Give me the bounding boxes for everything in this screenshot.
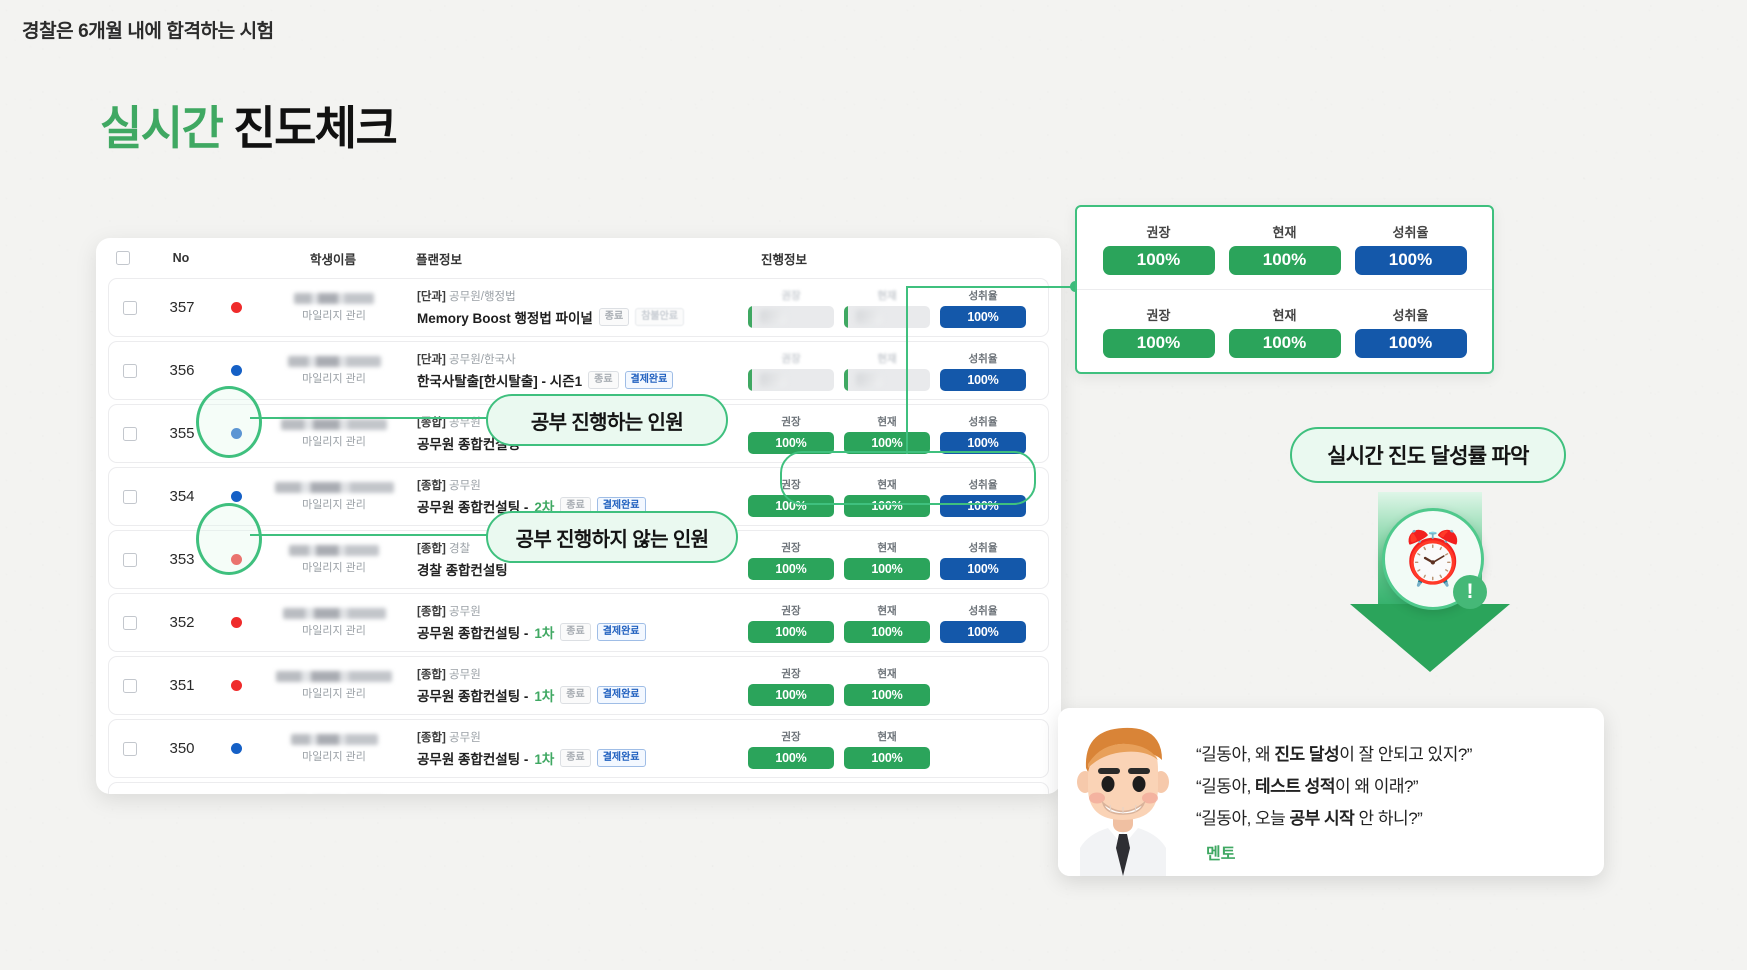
mileage-label: 마일리지 관리	[302, 622, 366, 638]
progress-cell-achievement: 성취율 100%	[940, 603, 1026, 643]
alarm-clock-glyph: ⏰	[1401, 533, 1466, 585]
detail-label-current: 현재	[1273, 222, 1297, 241]
progress-cell-recommended: 권장	[748, 288, 834, 328]
detail-connector-horizontal	[906, 286, 1076, 288]
plan-title-line: 한국사탈출[한시탈출] - 시즌1종료결제완료	[417, 370, 673, 390]
mentor-avatar	[1058, 708, 1188, 876]
select-all-cell[interactable]	[96, 251, 150, 265]
progress-label-achievement: 성취율	[969, 603, 998, 618]
select-all-checkbox[interactable]	[116, 251, 130, 265]
row-student-name: 마일리지 관리	[259, 671, 409, 701]
mentor-line-1: “길동아, 왜 진도 달성이 잘 안되고 있지?”	[1196, 740, 1588, 765]
progress-label-recommended: 권장	[781, 540, 800, 555]
plan-title: 공무원 종합컨설팅 -	[417, 685, 528, 705]
highlight-ring-not-studying	[196, 503, 262, 575]
progress-label-current: 현재	[877, 414, 896, 429]
mentor-line-3: “길동아, 오늘 공부 시작 안 하니?”	[1196, 804, 1588, 829]
student-name-masked	[294, 293, 374, 304]
progress-label-current: 현재	[877, 666, 896, 681]
row-no: 354	[151, 488, 213, 505]
progress-cell-recommended: 권장 100%	[748, 729, 834, 769]
header-no: No	[150, 251, 212, 265]
mentor-line-3-c: 안 하니?”	[1354, 809, 1422, 828]
progress-highlight-box	[780, 451, 1036, 505]
plan-tag-payment: 결제완료	[597, 623, 646, 642]
row-status-indicator	[213, 680, 259, 691]
plan-title-line: 공무원 종합컨설팅 -1차종료결제완료	[417, 622, 646, 642]
row-student-name: 마일리지 관리	[259, 545, 409, 575]
row-progress-info: 권장 현재 성취율 100%	[742, 288, 1048, 328]
row-checkbox[interactable]	[123, 427, 137, 441]
mentor-line-1-b: 진도 달성	[1274, 745, 1339, 764]
progress-bar-achievement: 100%	[940, 306, 1026, 328]
row-progress-info: 권장 100% 현재 100%	[742, 666, 1048, 706]
callout-connector-not-studying	[250, 534, 496, 536]
plan-category: [단과]	[417, 354, 446, 366]
table-row[interactable]: 350 마일리지 관리 [종합] 공무원 공무원 종합컨설팅 -1차종료결제완료…	[108, 719, 1049, 778]
row-status-indicator	[213, 617, 259, 628]
detail-label-achievement: 성취율	[1393, 222, 1429, 241]
progress-label-recommended: 권장	[781, 414, 800, 429]
progress-bar-current	[844, 369, 930, 391]
student-name-masked	[275, 482, 394, 493]
callout-not-studying: 공부 진행하지 않는 인원	[486, 511, 738, 563]
detail-cell-achievement: 성취율 100%	[1355, 222, 1467, 275]
row-no: 352	[151, 614, 213, 631]
detail-label-current: 현재	[1273, 305, 1297, 324]
page-title: 실시간 진도체크	[100, 105, 396, 151]
table-header-row: No 학생이름 플랜정보 진행정보	[96, 238, 1061, 278]
mileage-label: 마일리지 관리	[302, 433, 366, 449]
row-checkbox[interactable]	[123, 301, 137, 315]
plan-subject: 공무원/한국사	[449, 354, 516, 366]
plan-title-line: 공무원 종합컨설팅 -1차종료결제완료	[417, 748, 646, 768]
page-title-highlight: 실시간	[100, 102, 222, 154]
progress-bar-recommended: 100%	[748, 747, 834, 769]
row-checkbox[interactable]	[123, 616, 137, 630]
kicker-text: 경찰은 6개월 내에 합격하는 시험	[22, 16, 274, 43]
student-name-masked	[283, 608, 386, 619]
plan-subject: 공무원	[449, 669, 481, 681]
plan-order: 1차	[534, 622, 554, 642]
mentor-line-2-b: 테스트 성적	[1255, 777, 1335, 796]
row-no: 356	[151, 362, 213, 379]
plan-category: [단과]	[417, 291, 446, 303]
student-name-masked	[291, 734, 378, 745]
plan-tag-payment: 참불안료	[635, 308, 684, 327]
status-dot-blue	[231, 491, 242, 502]
mileage-label: 마일리지 관리	[302, 559, 366, 575]
plan-order: 1차	[534, 685, 554, 705]
mentor-line-3-b: 공부 시작	[1290, 809, 1355, 828]
progress-label-current: 현재	[877, 603, 896, 618]
detail-bar-recommended: 100%	[1103, 246, 1215, 275]
progress-label-current: 현재	[877, 792, 896, 795]
progress-bar-achievement: 100%	[940, 558, 1026, 580]
mentor-avatar-illustration	[1058, 708, 1188, 876]
row-progress-info: 권장 100% 현재 100% 성취율 100%	[742, 414, 1048, 454]
row-plan-info: [단과] 공무원/한국사 한국사탈출[한시탈출] - 시즌1종료결제완료	[409, 351, 742, 390]
progress-bar-current	[844, 306, 930, 328]
progress-label-achievement: 성취율	[969, 540, 998, 555]
row-progress-info: 권장 100% 현재 100%	[742, 792, 1048, 795]
row-status-indicator	[213, 491, 259, 502]
progress-cell-achievement: 성취율 100%	[940, 288, 1026, 328]
row-status-indicator	[213, 743, 259, 754]
row-progress-info: 권장 100% 현재 100%	[742, 729, 1048, 769]
progress-label-recommended: 권장	[781, 792, 800, 795]
row-student-name: 마일리지 관리	[259, 419, 409, 449]
table-row[interactable]: 349 마일리지 관리 [종합] 공무원 공무원 종합컨설팅 -1차종료결제완료…	[108, 782, 1049, 794]
status-dot-red	[231, 680, 242, 691]
row-checkbox[interactable]	[123, 553, 137, 567]
progress-cell-recommended: 권장 100%	[748, 666, 834, 706]
mileage-label: 마일리지 관리	[302, 307, 366, 323]
student-name-masked	[276, 671, 392, 682]
progress-cell-current: 현재 100%	[844, 414, 930, 454]
detail-row: 권장 100% 현재 100% 성취율 100%	[1077, 207, 1492, 290]
progress-cell-current: 현재 100%	[844, 540, 930, 580]
progress-cell-current: 현재 100%	[844, 666, 930, 706]
plan-tag-payment: 결제완료	[625, 371, 674, 390]
realtime-achievement-label: 실시간 진도 달성률 파악	[1290, 427, 1566, 483]
student-name-masked	[289, 545, 379, 556]
row-status-indicator	[213, 302, 259, 313]
plan-tag-payment: 결제완료	[597, 686, 646, 705]
row-select-cell[interactable]	[109, 742, 151, 756]
plan-category: [종합]	[417, 669, 446, 681]
status-dot-red	[231, 302, 242, 313]
plan-category: [종합]	[417, 543, 446, 555]
mileage-label: 마일리지 관리	[302, 496, 366, 512]
table-row[interactable]: 352 마일리지 관리 [종합] 공무원 공무원 종합컨설팅 -1차종료결제완료…	[108, 593, 1049, 652]
status-dot-blue	[231, 743, 242, 754]
plan-tag-status: 종료	[560, 623, 590, 642]
progress-bar-current: 100%	[844, 558, 930, 580]
alarm-clock-icon: ⏰ !	[1382, 508, 1484, 610]
row-select-cell[interactable]	[109, 553, 151, 567]
detail-label-achievement: 성취율	[1393, 305, 1429, 324]
row-no: 357	[151, 299, 213, 316]
row-plan-info: [종합] 공무원 공무원 종합컨설팅 -1차종료결제완료	[409, 729, 742, 768]
plan-subject: 공무원	[449, 606, 481, 618]
plan-category-line: [종합] 공무원	[417, 729, 481, 745]
row-student-name: 마일리지 관리	[259, 293, 409, 323]
progress-label-recommended: 권장	[781, 666, 800, 681]
progress-label-current: 현재	[877, 540, 896, 555]
progress-bar-current: 100%	[844, 747, 930, 769]
row-select-cell[interactable]	[109, 364, 151, 378]
alert-arrow: ⏰ !	[1350, 492, 1510, 672]
plan-title-line: 경찰 종합컨설팅	[417, 559, 508, 579]
progress-label-recommended: 권장	[781, 288, 800, 303]
row-no: 350	[151, 740, 213, 757]
progress-label-recommended: 권장	[781, 351, 800, 366]
row-no: 351	[151, 677, 213, 694]
header-plan: 플랜정보	[408, 249, 755, 268]
detail-connector-vertical	[906, 288, 908, 454]
mentor-line-1-a: “길동아, 왜	[1196, 745, 1274, 764]
status-dot-red	[231, 617, 242, 628]
plan-subject: 경찰	[449, 543, 470, 555]
row-student-name: 마일리지 관리	[259, 482, 409, 512]
progress-bar-recommended: 100%	[748, 684, 834, 706]
plan-title: 경찰 종합컨설팅	[417, 559, 508, 579]
progress-bar-current: 100%	[844, 684, 930, 706]
mentor-line-2-a: “길동아,	[1196, 777, 1255, 796]
progress-label-achievement: 성취율	[969, 351, 998, 366]
highlight-ring-studying	[196, 386, 262, 458]
progress-cell-current: 현재 100%	[844, 603, 930, 643]
row-student-name: 마일리지 관리	[259, 734, 409, 764]
row-progress-info: 권장 현재 성취율 100%	[742, 351, 1048, 391]
row-progress-info: 권장 100% 현재 100% 성취율 100%	[742, 603, 1048, 643]
plan-title: Memory Boost 행정법 파이널	[417, 307, 593, 327]
plan-order: 1차	[534, 748, 554, 768]
plan-category-line: [종합] 공무원	[417, 477, 481, 493]
progress-bar-recommended: 100%	[748, 621, 834, 643]
plan-category-line: [종합] 공무원	[417, 792, 481, 794]
mentor-message-text: “길동아, 왜 진도 달성이 잘 안되고 있지?” “길동아, 테스트 성적이 …	[1188, 724, 1604, 876]
plan-category-line: [종합] 공무원	[417, 603, 481, 619]
row-student-name: 마일리지 관리	[259, 356, 409, 386]
progress-cell-achievement: 성취율 100%	[940, 351, 1026, 391]
plan-category-line: [단과] 공무원/한국사	[417, 351, 516, 367]
plan-category-line: [단과] 공무원/행정법	[417, 288, 516, 304]
plan-title-line: 공무원 종합컨설팅 -1차종료결제완료	[417, 685, 646, 705]
progress-cell-current: 현재	[844, 288, 930, 328]
progress-cell-recommended: 권장 100%	[748, 792, 834, 795]
student-name-masked	[281, 419, 387, 430]
plan-category: [종합]	[417, 606, 446, 618]
mentor-name: 멘토	[1206, 840, 1588, 864]
plan-tag-status: 종료	[560, 686, 590, 705]
plan-subject: 공무원/행정법	[449, 291, 516, 303]
progress-cell-recommended: 권장 100%	[748, 414, 834, 454]
mentor-line-1-c: 이 잘 안되고 있지?”	[1339, 745, 1472, 764]
row-checkbox[interactable]	[123, 364, 137, 378]
row-plan-info: [종합] 공무원 공무원 종합컨설팅 -1차종료결제완료	[409, 603, 742, 642]
row-plan-info: [종합] 공무원 공무원 종합컨설팅 -1차종료결제완료	[409, 666, 742, 705]
row-checkbox[interactable]	[123, 742, 137, 756]
progress-bar-recommended	[748, 306, 834, 328]
plan-tag-status: 종료	[599, 308, 629, 327]
progress-cell-achievement: 성취율 100%	[940, 540, 1026, 580]
plan-title: 공무원 종합컨설팅 -	[417, 748, 528, 768]
status-dot-blue	[231, 365, 242, 376]
progress-bar-achievement: 100%	[940, 369, 1026, 391]
row-select-cell[interactable]	[109, 427, 151, 441]
detail-cell-current: 현재 100%	[1229, 305, 1341, 358]
row-student-name: 마일리지 관리	[259, 608, 409, 638]
mileage-label: 마일리지 관리	[302, 370, 366, 386]
row-status-indicator	[213, 365, 259, 376]
plan-subject: 공무원	[449, 480, 481, 492]
detail-label-recommended: 권장	[1147, 222, 1171, 241]
row-checkbox[interactable]	[123, 490, 137, 504]
row-plan-info: [종합] 공무원 공무원 종합컨설팅 -1차종료결제완료	[409, 792, 742, 794]
progress-label-recommended: 권장	[781, 603, 800, 618]
detail-row: 권장 100% 현재 100% 성취율 100%	[1077, 290, 1492, 372]
progress-cell-current: 현재 100%	[844, 729, 930, 769]
student-name-masked	[288, 356, 381, 367]
plan-title-line: Memory Boost 행정법 파이널종료참불안료	[417, 307, 684, 327]
plan-category-line: [종합] 공무원	[417, 666, 481, 682]
mileage-label: 마일리지 관리	[302, 748, 366, 764]
detail-cell-achievement: 성취율 100%	[1355, 305, 1467, 358]
plan-category: [종합]	[417, 732, 446, 744]
header-progress: 진행정보	[755, 249, 1061, 268]
progress-label-current: 현재	[877, 351, 896, 366]
detail-cell-recommended: 권장 100%	[1103, 222, 1215, 275]
row-select-cell[interactable]	[109, 616, 151, 630]
plan-category: [종합]	[417, 480, 446, 492]
alert-badge: !	[1453, 575, 1487, 609]
progress-label-achievement: 성취율	[969, 414, 998, 429]
plan-title: 한국사탈출[한시탈출] - 시즌1	[417, 370, 582, 390]
progress-detail-panel: 권장 100% 현재 100% 성취율 100% 권장 100% 현재 100%…	[1075, 205, 1494, 374]
progress-bar-recommended: 100%	[748, 558, 834, 580]
progress-cell-recommended: 권장 100%	[748, 603, 834, 643]
plan-tag-status: 종료	[588, 371, 618, 390]
detail-cell-current: 현재 100%	[1229, 222, 1341, 275]
mentor-message-card: “길동아, 왜 진도 달성이 잘 안되고 있지?” “길동아, 테스트 성적이 …	[1058, 708, 1604, 876]
plan-category-line: [종합] 경찰	[417, 540, 470, 556]
page-title-rest: 진도체크	[233, 102, 396, 154]
plan-tag-status: 종료	[560, 749, 590, 768]
row-select-cell[interactable]	[109, 679, 151, 693]
progress-label-achievement: 성취율	[969, 288, 998, 303]
row-progress-info: 권장 100% 현재 100% 성취율 100%	[742, 540, 1048, 580]
row-select-cell[interactable]	[109, 490, 151, 504]
mentor-line-2: “길동아, 테스트 성적이 왜 이래?”	[1196, 772, 1588, 797]
progress-label-current: 현재	[877, 729, 896, 744]
callout-connector-studying	[250, 417, 496, 419]
progress-bar-current: 100%	[844, 621, 930, 643]
detail-bar-current: 100%	[1229, 329, 1341, 358]
progress-cell-recommended: 권장 100%	[748, 540, 834, 580]
arrow-head	[1350, 604, 1510, 672]
mentor-line-2-c: 이 왜 이래?”	[1335, 777, 1418, 796]
detail-bar-current: 100%	[1229, 246, 1341, 275]
progress-bar-achievement: 100%	[940, 621, 1026, 643]
mileage-label: 마일리지 관리	[302, 685, 366, 701]
progress-label-current: 현재	[877, 288, 896, 303]
header-student: 학생이름	[258, 249, 408, 268]
callout-studying: 공부 진행하는 인원	[486, 394, 728, 446]
table-row[interactable]: 351 마일리지 관리 [종합] 공무원 공무원 종합컨설팅 -1차종료결제완료…	[108, 656, 1049, 715]
progress-bar-recommended	[748, 369, 834, 391]
progress-cell-recommended: 권장	[748, 351, 834, 391]
plan-tag-payment: 결제완료	[597, 749, 646, 768]
detail-bar-recommended: 100%	[1103, 329, 1215, 358]
progress-cell-current: 현재	[844, 351, 930, 391]
detail-bar-achievement: 100%	[1355, 329, 1467, 358]
detail-cell-recommended: 권장 100%	[1103, 305, 1215, 358]
progress-label-recommended: 권장	[781, 729, 800, 744]
progress-cell-current: 현재 100%	[844, 792, 930, 795]
detail-bar-achievement: 100%	[1355, 246, 1467, 275]
plan-subject: 공무원	[449, 732, 481, 744]
mentor-line-3-a: “길동아, 오늘	[1196, 809, 1290, 828]
row-select-cell[interactable]	[109, 301, 151, 315]
plan-title: 공무원 종합컨설팅 -	[417, 622, 528, 642]
row-checkbox[interactable]	[123, 679, 137, 693]
row-plan-info: [단과] 공무원/행정법 Memory Boost 행정법 파이널종료참불안료	[409, 288, 742, 327]
detail-label-recommended: 권장	[1147, 305, 1171, 324]
progress-cell-achievement: 성취율 100%	[940, 414, 1026, 454]
